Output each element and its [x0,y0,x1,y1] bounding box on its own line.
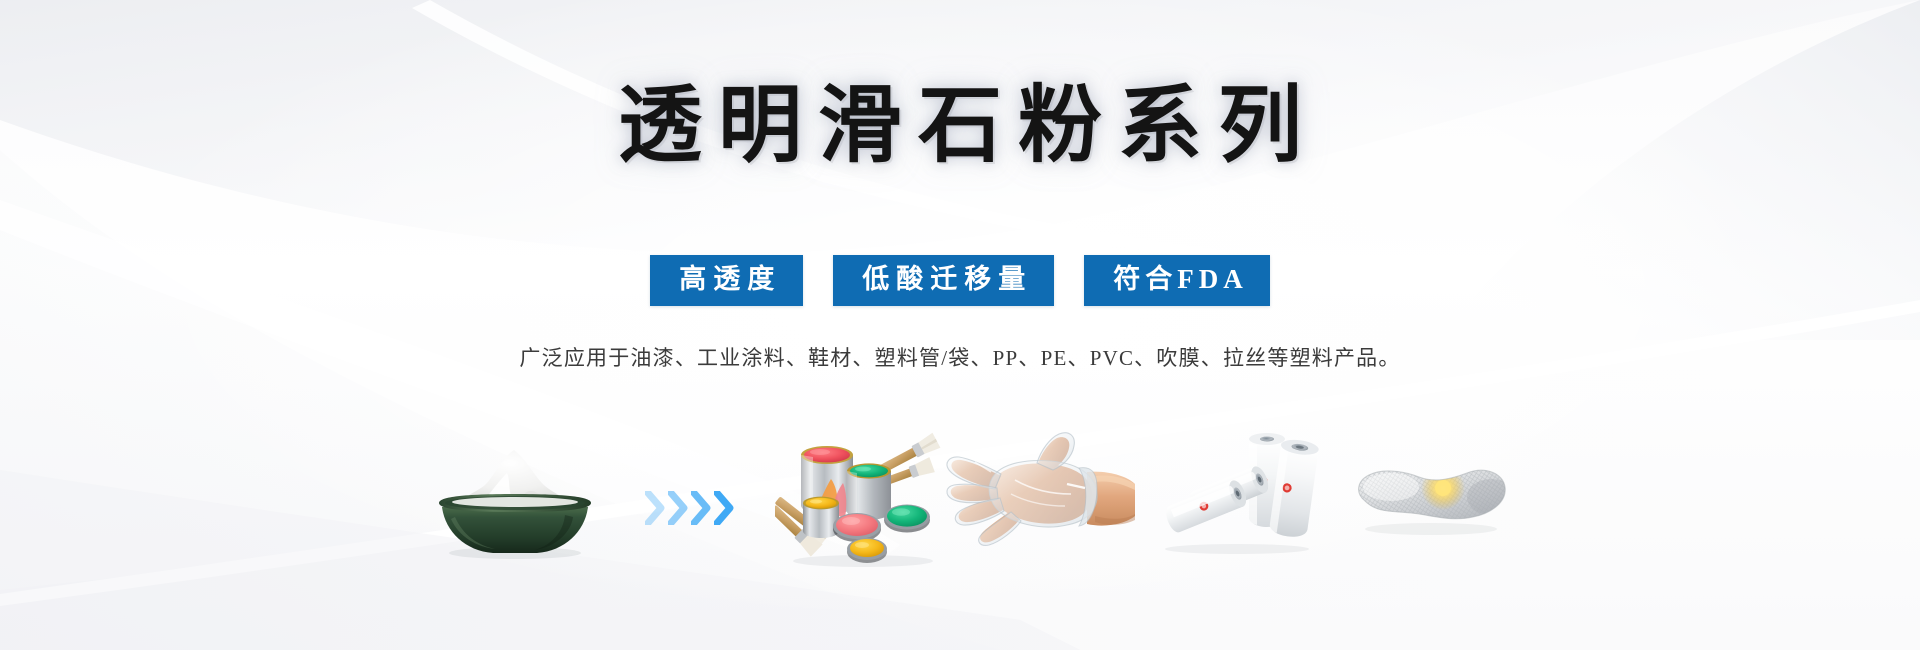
chevron-right-icon-3 [691,491,711,525]
product-banner: 透明滑石粉系列 高透度 低酸迁移量 符合FDA 广泛应用于油漆、工业涂料、鞋材、… [0,0,1920,650]
product-application-strip [0,419,1920,569]
shoe-sole-image [1345,445,1510,545]
feature-badge-high-transparency: 高透度 [650,255,803,306]
feature-badge-list: 高透度 低酸迁移量 符合FDA [650,255,1270,306]
chevron-right-icon-2 [668,491,688,525]
application-description: 广泛应用于油漆、工业涂料、鞋材、塑料管/袋、PP、PE、PVC、吹膜、拉丝等塑料… [519,342,1400,372]
talc-powder-bowl-icon [415,441,615,561]
shoe-sole-icon [1345,445,1510,545]
talc-powder-bowl-image [415,441,615,561]
banner-content: 透明滑石粉系列 高透度 低酸迁移量 符合FDA 广泛应用于油漆、工业涂料、鞋材、… [0,0,1920,650]
page-title: 透明滑石粉系列 [602,82,1318,173]
paint-cans-image [775,419,950,569]
chevron-right-icon-4 [714,491,734,525]
process-arrows [645,491,734,525]
feature-badge-low-acid-migration: 低酸迁移量 [833,255,1054,306]
plastic-film-rolls-image [1155,433,1325,555]
chevron-right-icon-1 [645,491,665,525]
gloved-hand-icon [945,432,1135,547]
feature-badge-fda-compliant: 符合FDA [1084,255,1270,306]
paint-cans-icon [775,419,950,569]
gloved-hand-image [945,432,1135,547]
film-rolls-icon [1155,433,1325,555]
